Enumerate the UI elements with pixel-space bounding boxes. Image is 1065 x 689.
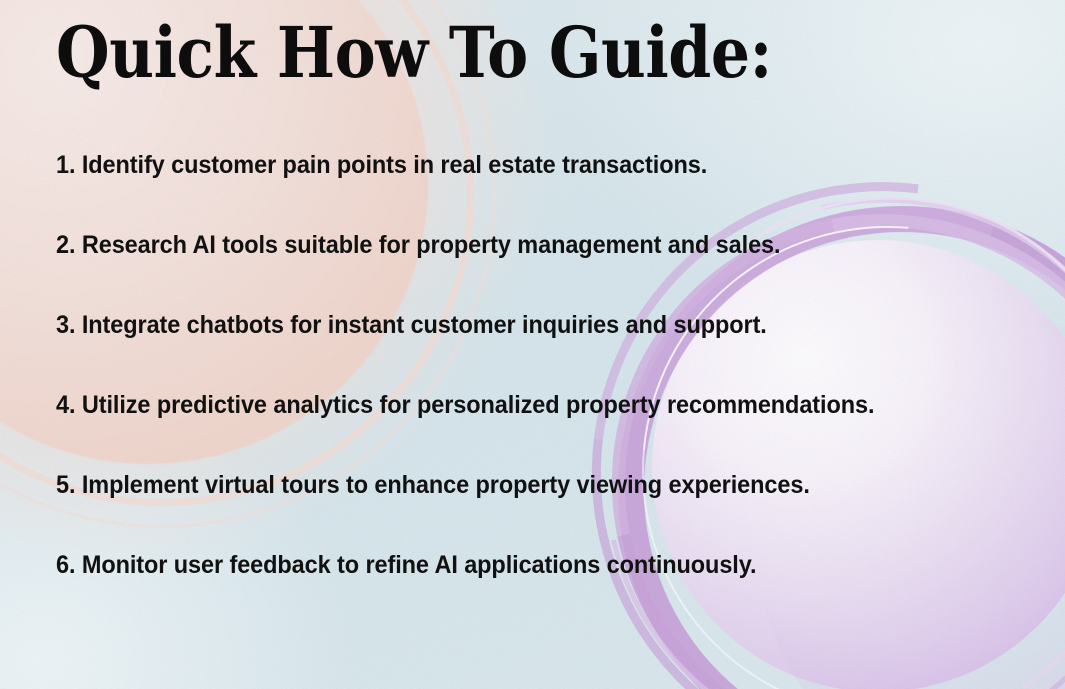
list-item: 5. Implement virtual tours to enhance pr…: [56, 472, 967, 552]
list-item: 1. Identify customer pain points in real…: [56, 152, 967, 232]
list-item: 2. Research AI tools suitable for proper…: [56, 232, 967, 312]
step-text: Identify customer pain points in real es…: [82, 151, 707, 179]
list-item: 4. Utilize predictive analytics for pers…: [56, 392, 967, 472]
step-number: 1.: [56, 151, 82, 179]
step-number: 2.: [56, 231, 82, 259]
step-number: 4.: [56, 391, 82, 419]
step-text: Implement virtual tours to enhance prope…: [82, 471, 810, 499]
step-text: Monitor user feedback to refine AI appli…: [82, 551, 757, 579]
poster-content: Quick How To Guide: 1. Identify customer…: [0, 0, 1065, 689]
step-text: Research AI tools suitable for property …: [82, 231, 781, 259]
list-item: 3. Integrate chatbots for instant custom…: [56, 312, 967, 392]
list-item: 6. Monitor user feedback to refine AI ap…: [56, 552, 967, 632]
how-to-step-list: 1. Identify customer pain points in real…: [56, 152, 1025, 632]
page-title: Quick How To Guide:: [56, 18, 772, 88]
step-text: Utilize predictive analytics for persona…: [82, 391, 875, 419]
step-number: 3.: [56, 311, 82, 339]
poster-canvas: Quick How To Guide: 1. Identify customer…: [0, 0, 1065, 689]
step-number: 5.: [56, 471, 82, 499]
step-text: Integrate chatbots for instant customer …: [82, 311, 767, 339]
step-number: 6.: [56, 551, 82, 579]
